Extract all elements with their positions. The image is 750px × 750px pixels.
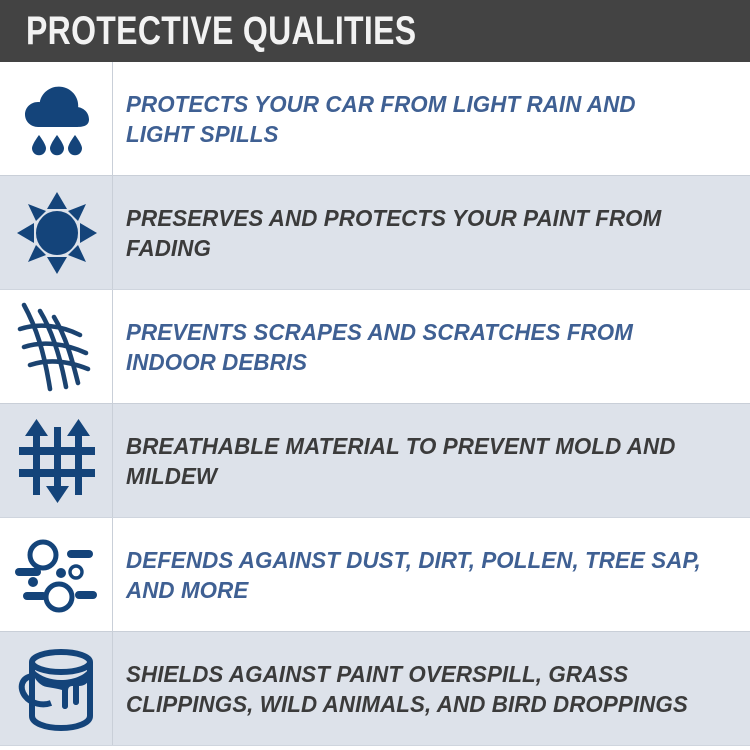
- scratch-mesh-icon: [14, 301, 100, 393]
- text-cell: PRESERVES AND PROTECTS YOUR PAINT FROM F…: [113, 176, 750, 290]
- list-item-label: PROTECTS YOUR CAR FROM LIGHT RAIN AND LI…: [126, 89, 702, 149]
- page-title: PROTECTIVE QUALITIES: [26, 11, 416, 51]
- icon-cell: [0, 632, 113, 746]
- list-item[interactable]: DEFENDS AGAINST DUST, DIRT, POLLEN, TREE…: [0, 518, 750, 632]
- paint-can-icon: [17, 646, 97, 732]
- list-item-label: PRESERVES AND PROTECTS YOUR PAINT FROM F…: [126, 203, 702, 263]
- text-cell: BREATHABLE MATERIAL TO PREVENT MOLD AND …: [113, 404, 750, 518]
- dust-particles-icon: [13, 535, 101, 615]
- list-item-label: DEFENDS AGAINST DUST, DIRT, POLLEN, TREE…: [126, 545, 702, 605]
- list-item-label: SHIELDS AGAINST PAINT OVERSPILL, GRASS C…: [126, 659, 702, 719]
- list-item[interactable]: BREATHABLE MATERIAL TO PREVENT MOLD AND …: [0, 404, 750, 518]
- list-item[interactable]: SHIELDS AGAINST PAINT OVERSPILL, GRASS C…: [0, 632, 750, 746]
- airflow-arrows-icon: [17, 419, 97, 503]
- list-item[interactable]: PREVENTS SCRAPES AND SCRATCHES FROM INDO…: [0, 290, 750, 404]
- icon-cell: [0, 62, 113, 176]
- icon-cell: [0, 518, 113, 632]
- icon-cell: [0, 176, 113, 290]
- text-cell: SHIELDS AGAINST PAINT OVERSPILL, GRASS C…: [113, 632, 750, 746]
- sun-icon: [17, 192, 97, 274]
- rain-cloud-icon: [18, 79, 96, 159]
- icon-cell: [0, 404, 113, 518]
- icon-cell: [0, 290, 113, 404]
- header-bar: PROTECTIVE QUALITIES: [0, 0, 750, 62]
- list-item[interactable]: PROTECTS YOUR CAR FROM LIGHT RAIN AND LI…: [0, 62, 750, 176]
- feature-list: PROTECTS YOUR CAR FROM LIGHT RAIN AND LI…: [0, 62, 750, 746]
- list-item-label: PREVENTS SCRAPES AND SCRATCHES FROM INDO…: [126, 317, 702, 377]
- text-cell: DEFENDS AGAINST DUST, DIRT, POLLEN, TREE…: [113, 518, 750, 632]
- list-item-label: BREATHABLE MATERIAL TO PREVENT MOLD AND …: [126, 431, 702, 491]
- text-cell: PROTECTS YOUR CAR FROM LIGHT RAIN AND LI…: [113, 62, 750, 176]
- protective-qualities-infographic: PROTECTIVE QUALITIES PROTECTS YOUR CAR F…: [0, 0, 750, 750]
- text-cell: PREVENTS SCRAPES AND SCRATCHES FROM INDO…: [113, 290, 750, 404]
- list-item[interactable]: PRESERVES AND PROTECTS YOUR PAINT FROM F…: [0, 176, 750, 290]
